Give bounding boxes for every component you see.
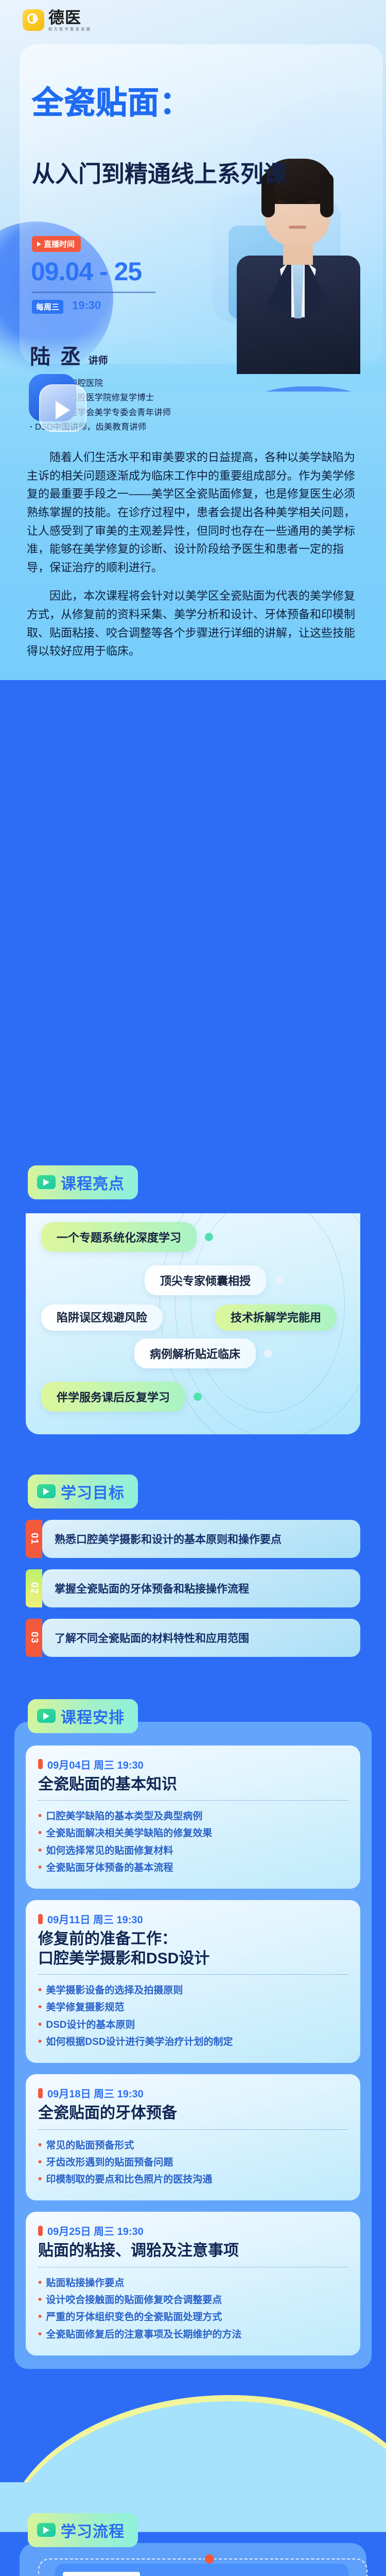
highlights-card: 一个专题系统化深度学习 顶尖专家倾囊相授 陷阱误区规避风险 技术拆解学完能用 病… bbox=[26, 1191, 360, 1434]
page-title: 全瓷贴面： bbox=[32, 87, 191, 118]
brand-logo[interactable]: 德医 助力医学教育发展 bbox=[23, 9, 92, 31]
speaker-role: 讲师 bbox=[89, 355, 108, 366]
schedule-session: 09月25日 周三 19:30 贴面的粘接、调𬌗及注意事项 贴面粘接操作要点 设… bbox=[26, 2212, 360, 2355]
section-title: 课程安排 bbox=[61, 1705, 125, 1727]
session-dot-icon bbox=[38, 1759, 43, 1769]
section-header-flow: 学习流程 bbox=[28, 2513, 138, 2547]
schedule-session: 09月11日 周三 19:30 修复前的准备工作： 口腔美学摄影和DSD设计 美… bbox=[26, 1900, 360, 2063]
objective-number: 01 bbox=[26, 1520, 42, 1558]
page-subtitle: 从入门到精通线上系列课 bbox=[32, 162, 287, 186]
session-dot-icon bbox=[38, 2088, 43, 2098]
session-dot-icon bbox=[38, 1914, 43, 1924]
session-point: 常见的贴面预备形式 bbox=[46, 2137, 134, 2154]
session-point: 印模制取的要点和比色照片的医技沟通 bbox=[46, 2171, 212, 2188]
session-title: 全瓷贴面的基本知识 bbox=[38, 1775, 348, 1794]
logo-mark-icon bbox=[23, 9, 44, 31]
speaker-portrait bbox=[217, 164, 377, 370]
session-point: 如何选择常见的贴面修复材料 bbox=[46, 1842, 173, 1859]
session-date: 09月04日 周三 19:30 bbox=[47, 1757, 144, 1772]
schedule-container: 09月04日 周三 19:30 全瓷贴面的基本知识 口腔美学缺陷的基本类型及典型… bbox=[14, 1722, 372, 2369]
live-time-badge: 直播时间 bbox=[32, 236, 81, 252]
logo-tagline: 助力医学教育发展 bbox=[48, 27, 92, 31]
objectives-list: 01 熟悉口腔美学摄影和设计的基本原则和操作要点 02 掌握全瓷贴面的牙体预备和… bbox=[0, 1520, 386, 1657]
speaker-name: 陆 丞 bbox=[30, 340, 83, 370]
session-title: 修复前的准备工作： 口腔美学摄影和DSD设计 bbox=[38, 1929, 348, 1968]
session-date: 09月18日 周三 19:30 bbox=[47, 2086, 144, 2100]
objective-text: 了解不同全瓷贴面的材料特性和应用范围 bbox=[42, 1619, 360, 1657]
schedule-session: 09月04日 周三 19:30 全瓷贴面的基本知识 口腔美学缺陷的基本类型及典型… bbox=[26, 1745, 360, 1889]
session-point: 设计咬合接触面的贴面修复咬合调整要点 bbox=[46, 2292, 222, 2309]
session-point: 美学摄影设备的选择及拍摄原则 bbox=[46, 1982, 183, 1999]
section-header-objectives: 学习目标 bbox=[28, 1475, 138, 1509]
flow-step: Step 1 # 报名成功后 专属课程顾问邀请进直播群 bbox=[32, 2564, 354, 2576]
logo-name: 德医 bbox=[48, 10, 92, 26]
objective-item: 02 掌握全瓷贴面的牙体预备和粘接操作流程 bbox=[26, 1569, 360, 1607]
video-play-icon bbox=[37, 1709, 56, 1723]
session-point: 牙齿改形遇到的贴面预备问题 bbox=[46, 2154, 173, 2171]
step-card: # 报名成功后 专属课程顾问邀请进直播群 bbox=[55, 2564, 349, 2576]
objective-item: 01 熟悉口腔美学摄影和设计的基本原则和操作要点 bbox=[26, 1520, 360, 1558]
highlight-item: 伴学服务课后反复学习 bbox=[41, 1382, 185, 1412]
session-date: 09月25日 周三 19:30 bbox=[47, 2223, 144, 2238]
weekday-chip: 每周三 bbox=[32, 300, 63, 314]
session-point: 贴面粘接操作要点 bbox=[46, 2275, 124, 2292]
highlight-item: 顶尖专家倾囊相授 bbox=[145, 1265, 266, 1295]
wave-divider bbox=[0, 2384, 386, 2482]
section-title: 学习流程 bbox=[61, 2519, 125, 2541]
intro-text: 随着人们生活水平和审美要求的日益提高，各种以美学缺陷为主诉的相关问题逐渐成为临床… bbox=[0, 448, 386, 671]
step-screenshot bbox=[63, 2572, 140, 2576]
highlight-item: 技术拆解学完能用 bbox=[215, 1304, 337, 1331]
session-point: 口腔美学缺陷的基本类型及典型病例 bbox=[46, 1808, 202, 1825]
objective-text: 掌握全瓷贴面的牙体预备和粘接操作流程 bbox=[42, 1569, 360, 1607]
session-point: 如何根据DSD设计进行美学治疗计划的制定 bbox=[46, 2033, 233, 2050]
highlight-item: 陷阱误区规避风险 bbox=[41, 1304, 163, 1331]
course-date-range: 09.04 - 25 bbox=[31, 257, 142, 286]
session-point: 全瓷贴面解决相关美学缺陷的修复效果 bbox=[46, 1825, 212, 1842]
objective-text: 熟悉口腔美学摄影和设计的基本原则和操作要点 bbox=[42, 1520, 360, 1558]
play-button-icon[interactable] bbox=[29, 374, 89, 434]
session-point: DSD设计的基本原则 bbox=[46, 2016, 135, 2033]
objective-number: 03 bbox=[26, 1619, 42, 1657]
section-header-highlights: 课程亮点 bbox=[28, 1165, 138, 1199]
divider bbox=[32, 292, 155, 293]
intro-paragraph: 因此，本次课程将会针对以美学区全瓷贴面为代表的美学修复方式，从修复前的资料采集、… bbox=[27, 587, 359, 660]
course-time: 19:30 bbox=[72, 299, 101, 312]
highlight-item: 一个专题系统化深度学习 bbox=[41, 1222, 197, 1252]
session-date: 09月11日 周三 19:30 bbox=[47, 1911, 143, 1926]
section-header-schedule: 课程安排 bbox=[28, 1699, 138, 1733]
course-landing-page: 德医 助力医学教育发展 全瓷贴面： 从入门到精通线上系列课 直播时间 09.04… bbox=[0, 0, 386, 2576]
schedule-session: 09月18日 周三 19:30 全瓷贴面的牙体预备 常见的贴面预备形式 牙齿改形… bbox=[26, 2074, 360, 2200]
main-body: 课程亮点 一个专题系统化深度学习 顶尖专家倾囊相授 陷阱误区规避风险 技术拆解学… bbox=[0, 1182, 386, 2576]
session-title: 全瓷贴面的牙体预备 bbox=[38, 2104, 348, 2123]
session-dot-icon bbox=[38, 2226, 43, 2236]
session-point: 美学修复摄影规范 bbox=[46, 1999, 124, 2016]
session-point: 全瓷贴面修复后的注意事项及长期维护的方法 bbox=[46, 2326, 241, 2343]
video-play-icon bbox=[37, 2523, 56, 2537]
session-point: 严重的牙体组织变色的全瓷贴面处理方式 bbox=[46, 2309, 222, 2326]
section-title: 课程亮点 bbox=[61, 1171, 125, 1194]
flow-container: Step 1 # 报名成功后 专属课程顾问邀请进直播群 bbox=[20, 2543, 366, 2576]
highlight-item: 病例解析贴近临床 bbox=[134, 1338, 256, 1368]
session-point: 全瓷贴面牙体预备的基本流程 bbox=[46, 1859, 173, 1876]
play-triangle-icon bbox=[37, 242, 41, 247]
video-play-icon bbox=[37, 1175, 56, 1189]
section-title: 学习目标 bbox=[61, 1480, 125, 1503]
objective-number: 02 bbox=[26, 1569, 42, 1607]
intro-paragraph: 随着人们生活水平和审美要求的日益提高，各种以美学缺陷为主诉的相关问题逐渐成为临床… bbox=[27, 448, 359, 577]
objective-item: 03 了解不同全瓷贴面的材料特性和应用范围 bbox=[26, 1619, 360, 1657]
video-play-icon bbox=[37, 1484, 56, 1498]
session-title: 贴面的粘接、调𬌗及注意事项 bbox=[38, 2241, 348, 2261]
live-badge-label: 直播时间 bbox=[44, 239, 75, 249]
